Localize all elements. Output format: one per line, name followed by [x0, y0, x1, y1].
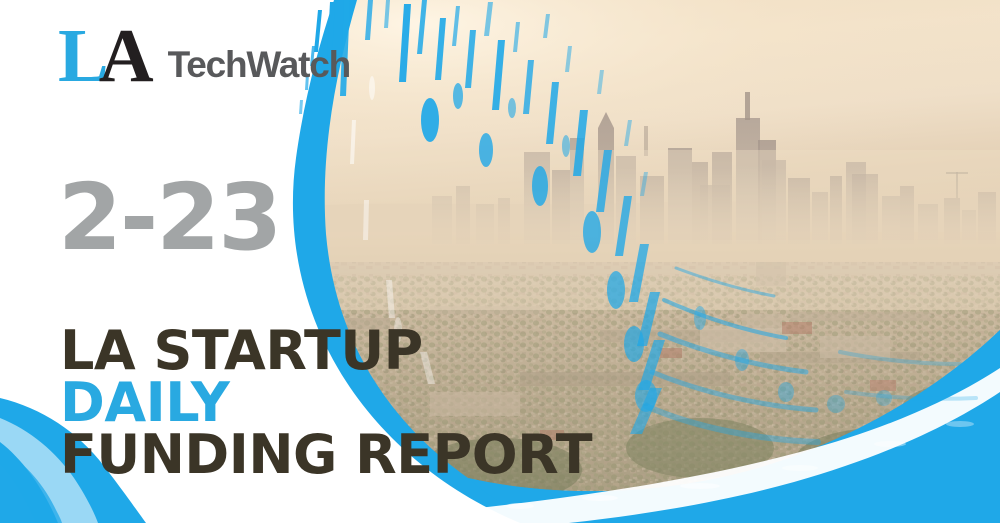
logo-wordmark: TechWatch: [168, 46, 350, 83]
logo-letter-l: L: [58, 14, 99, 98]
la-techwatch-logo[interactable]: LA TechWatch: [58, 18, 350, 94]
logo-letter-a: A: [99, 14, 144, 98]
headline-line-2: DAILY: [60, 377, 592, 429]
headline-block: LA STARTUP DAILY FUNDING REPORT: [60, 325, 592, 481]
banner-content: LA TechWatch 2-23 LA STARTUP DAILY FUNDI…: [0, 0, 1000, 523]
headline-line-1: LA STARTUP: [60, 325, 592, 377]
la-techwatch-funding-report-banner: LA TechWatch 2-23 LA STARTUP DAILY FUNDI…: [0, 0, 1000, 523]
headline-line-3: FUNDING REPORT: [60, 429, 592, 481]
issue-date: 2-23: [58, 172, 280, 264]
logo-mark: LA: [58, 18, 144, 94]
